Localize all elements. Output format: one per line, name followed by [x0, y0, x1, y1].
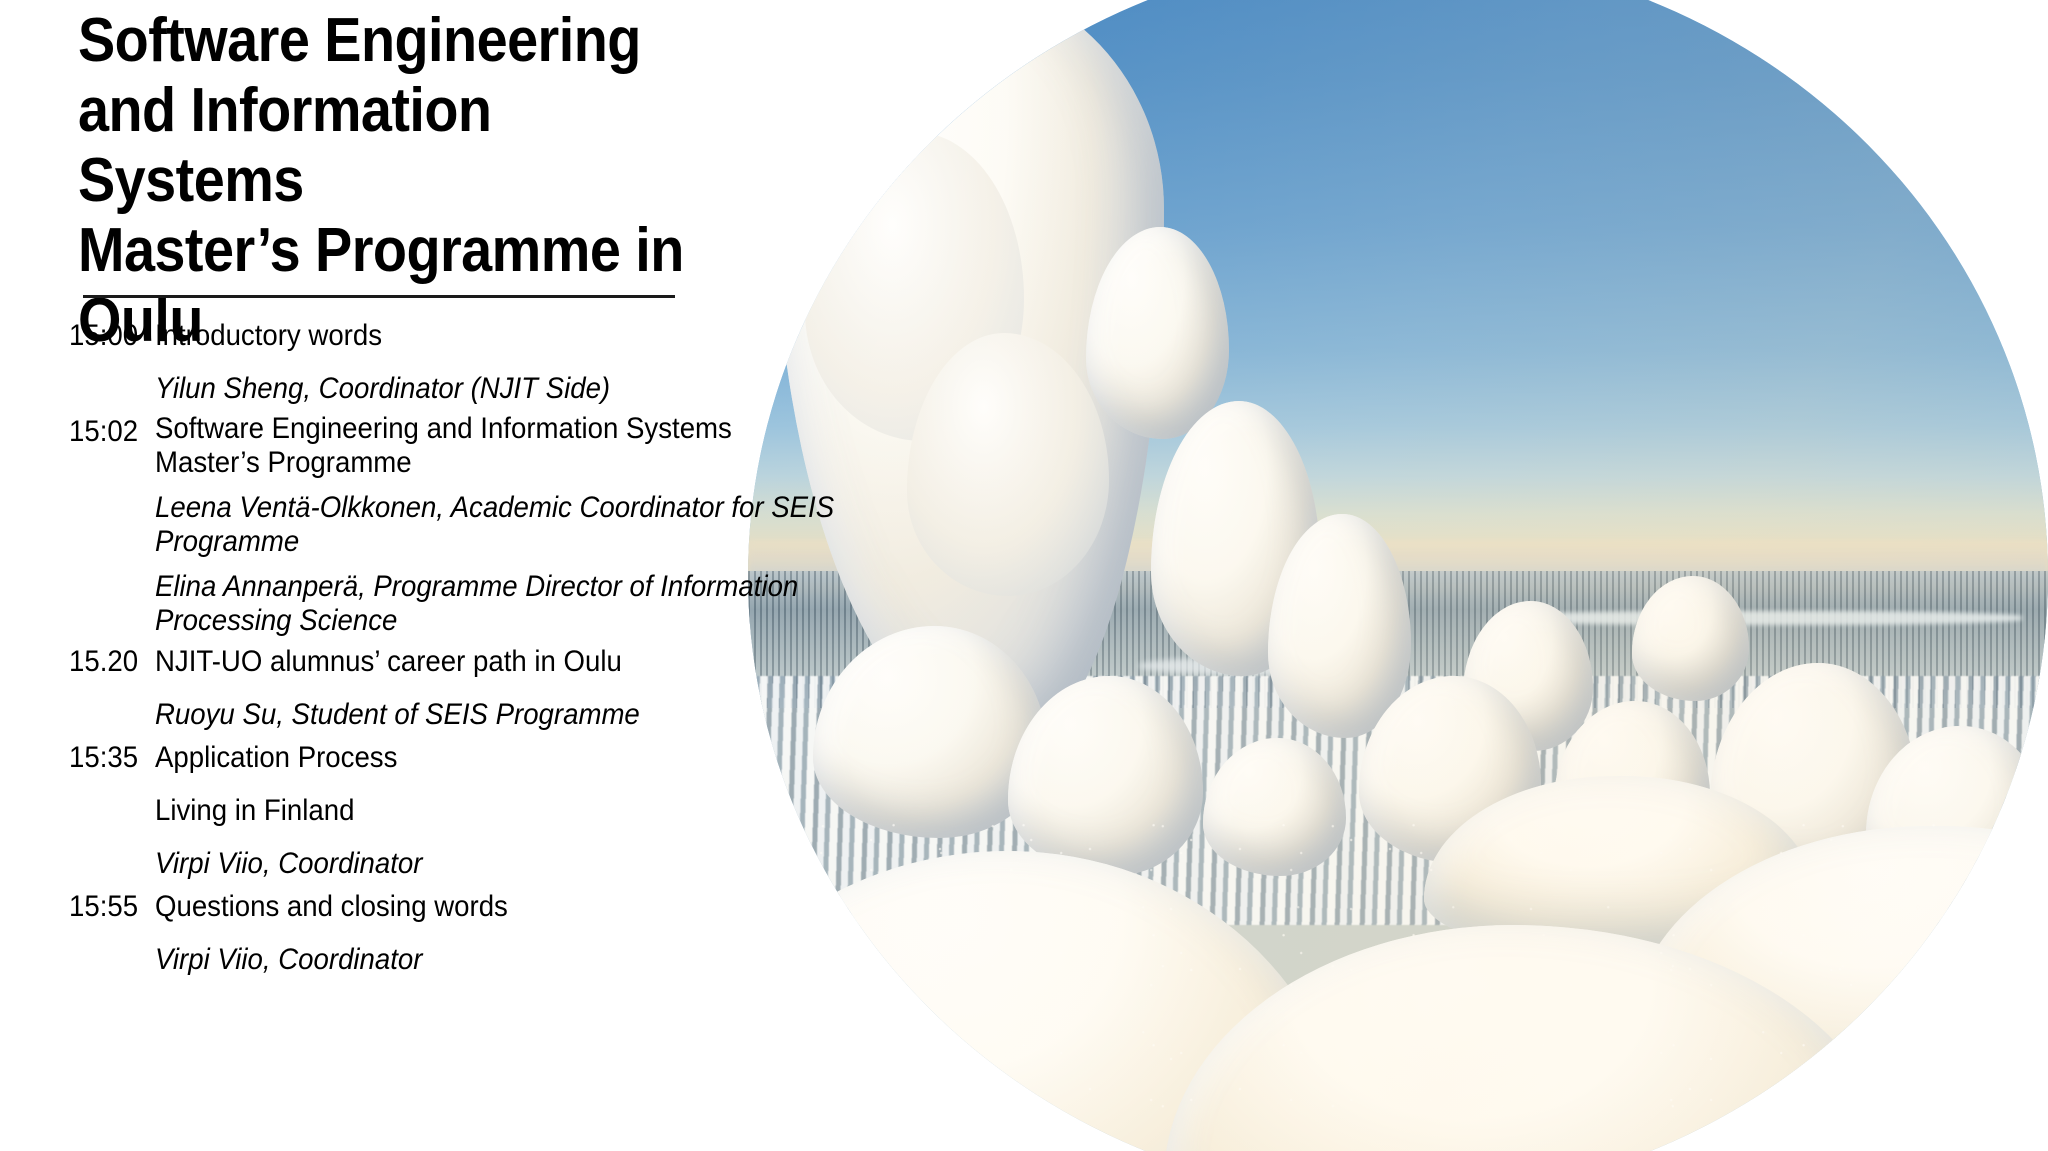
agenda-session-title: Introductory words [155, 316, 995, 355]
slide-content: Software Engineering and Information Sys… [0, 0, 1060, 1151]
agenda-speaker-cont: Programme [155, 525, 995, 559]
page-title: Software Engineering and Information Sys… [78, 6, 708, 356]
title-line: Software Engineering [78, 6, 641, 75]
agenda-item: 15:35 Application Process Living in Finl… [0, 734, 1000, 883]
agenda-time: 15:00 [0, 316, 143, 356]
agenda-session-subtitle: Living in Finland [155, 791, 995, 830]
distant-lake [1502, 611, 2022, 625]
agenda-time: 15.20 [0, 642, 143, 682]
title-line: Master’s Programme in [78, 216, 684, 285]
agenda-session-title: Application Process [155, 738, 995, 777]
agenda-session-title: NJIT-UO alumnus’ career path in Oulu [155, 642, 995, 681]
presentation-slide: Software Engineering and Information Sys… [0, 0, 2048, 1151]
agenda-time: 15:35 [0, 738, 143, 778]
agenda-detail: Application Process Living in Finland Vi… [155, 738, 1000, 883]
title-divider [83, 295, 675, 298]
agenda-speaker: Virpi Viio, Coordinator [155, 940, 995, 979]
agenda-item: 15.20 NJIT-UO alumnus’ career path in Ou… [0, 638, 1000, 734]
agenda-speaker: Ruoyu Su, Student of SEIS Programme [155, 695, 995, 734]
agenda-session-title: Questions and closing words [155, 887, 995, 926]
agenda-item: 15:00 Introductory words Yilun Sheng, Co… [0, 312, 1000, 408]
agenda-speaker: Leena Ventä-Olkkonen, Academic Coordinat… [155, 491, 995, 525]
agenda-item: 15:02 Software Engineering and Informati… [0, 408, 1000, 638]
agenda-time: 15:55 [0, 887, 143, 927]
agenda-detail: Software Engineering and Information Sys… [155, 412, 1000, 638]
agenda-speaker: Yilun Sheng, Coordinator (NJIT Side) [155, 369, 995, 408]
agenda-session-title: Software Engineering and Information Sys… [155, 412, 995, 446]
agenda-detail: Introductory words Yilun Sheng, Coordina… [155, 316, 1000, 408]
agenda-session-title-cont: Master’s Programme [155, 446, 995, 480]
agenda-speaker-cont: Processing Science [155, 604, 995, 638]
agenda-list: 15:00 Introductory words Yilun Sheng, Co… [0, 312, 1000, 979]
agenda-time: 15:02 [0, 412, 143, 452]
agenda-detail: NJIT-UO alumnus’ career path in Oulu Ruo… [155, 642, 1000, 734]
agenda-speaker: Elina Annanperä, Programme Director of I… [155, 570, 995, 604]
agenda-detail: Questions and closing words Virpi Viio, … [155, 887, 1000, 979]
agenda-speaker: Virpi Viio, Coordinator [155, 844, 995, 883]
agenda-item: 15:55 Questions and closing words Virpi … [0, 883, 1000, 979]
title-line: and Information Systems [78, 76, 491, 215]
